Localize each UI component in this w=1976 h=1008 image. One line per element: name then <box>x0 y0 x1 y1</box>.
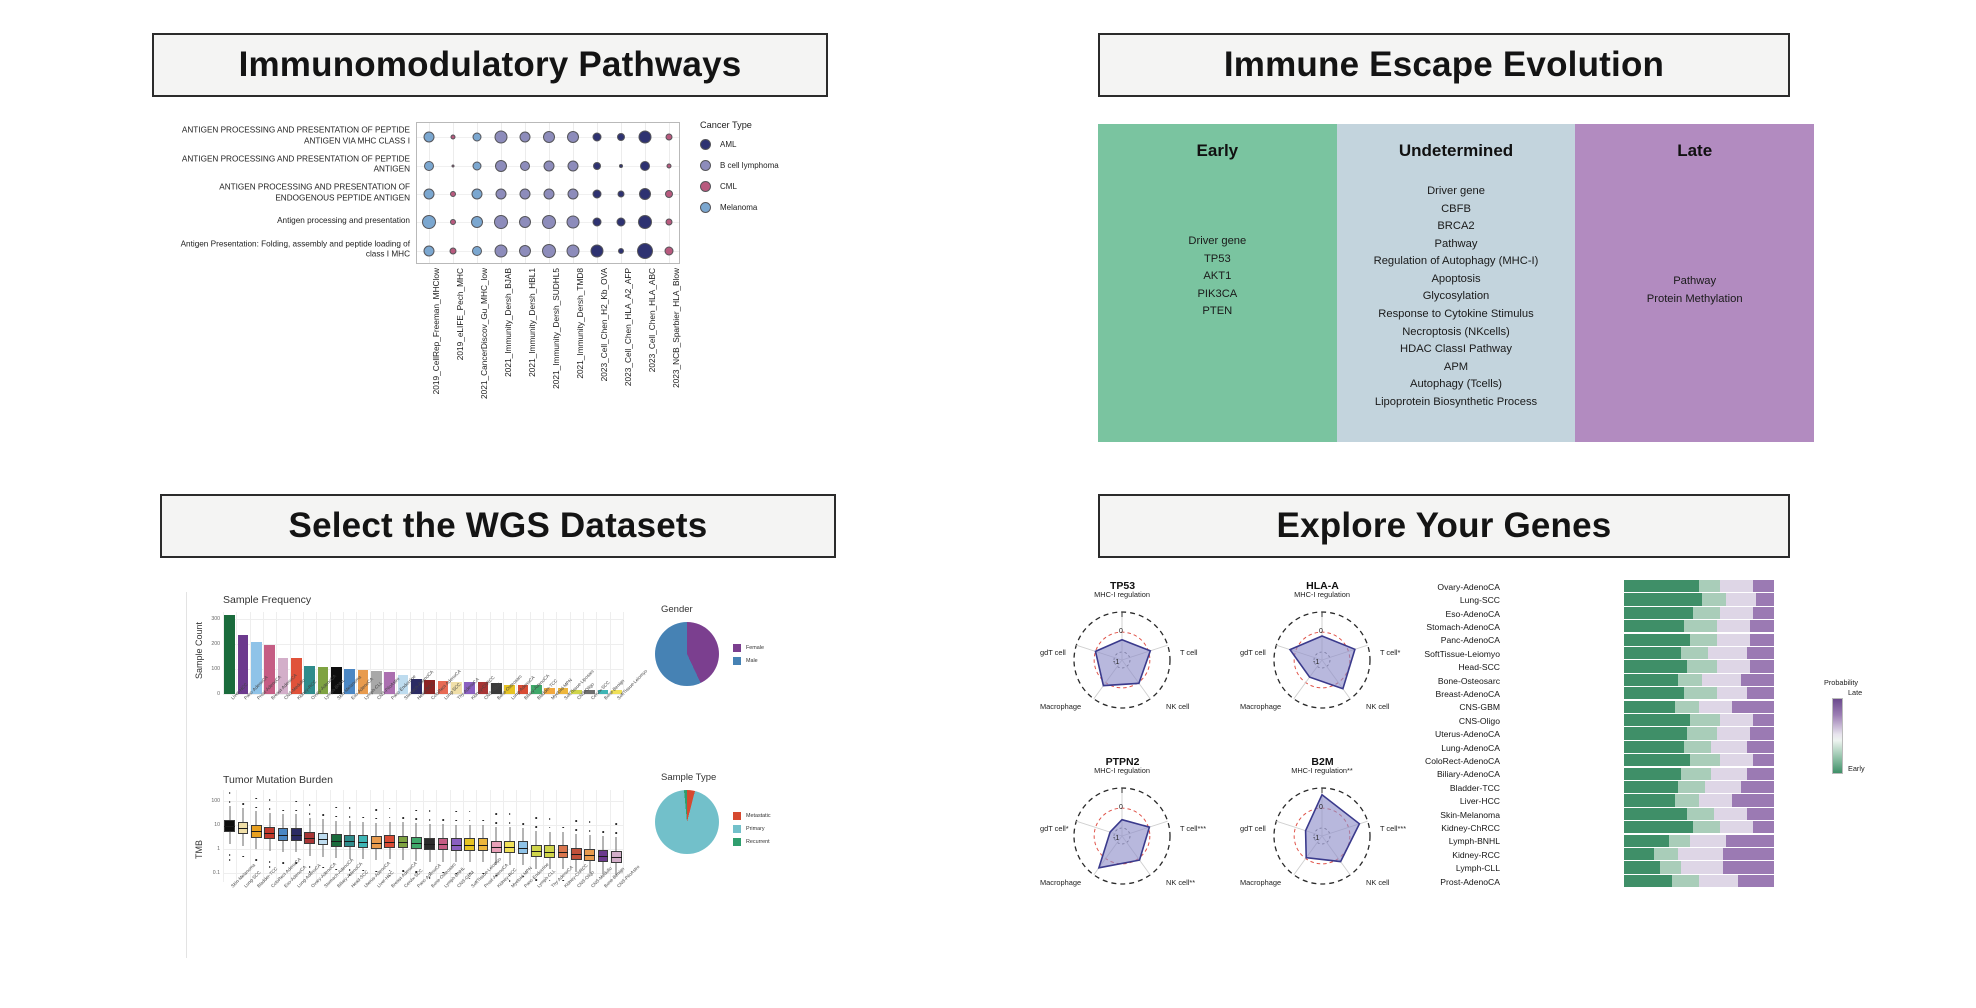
heatmap-row-label: Skin-Melanoma <box>1384 810 1500 820</box>
box-outlier <box>229 792 231 794</box>
heatmap-cell <box>1675 794 1699 806</box>
dotplot-row-label: ANTIGEN PROCESSING AND PRESENTATION OF P… <box>180 126 410 147</box>
dotplot-dot <box>472 189 483 200</box>
escape-column-early: EarlyDriver geneTP53AKT1PIK3CAPTEN <box>1098 124 1337 442</box>
heatmap-cell <box>1753 754 1774 766</box>
box-outlier <box>562 827 564 829</box>
box-median <box>304 838 315 839</box>
heatmap-cell <box>1753 580 1774 592</box>
escape-spacer <box>1098 165 1337 233</box>
heatmap-cell <box>1624 835 1669 847</box>
box-outlier <box>389 808 391 810</box>
heatmap-row-label: Bone-Osteosarc <box>1384 676 1500 686</box>
dotplot-dot <box>450 191 456 197</box>
heatmap-cell <box>1699 701 1732 713</box>
dotplot-dot <box>496 189 507 200</box>
box-outlier <box>269 861 271 863</box>
dotplot-dot <box>542 215 556 229</box>
svg-text:-1: -1 <box>1113 835 1119 842</box>
box-outlier <box>322 867 324 869</box>
heatmap-cell <box>1624 580 1699 592</box>
escape-column-late: LatePathwayProtein Methylation <box>1575 124 1814 442</box>
box-outlier <box>562 880 564 882</box>
svg-text:0: 0 <box>1119 628 1123 635</box>
escape-column-header: Early <box>1098 141 1337 161</box>
heatmap-cell <box>1699 794 1732 806</box>
escape-list-item: Regulation of Autophagy (MHC-I) <box>1337 253 1576 271</box>
dotplot-row-label: Antigen Presentation: Folding, assembly … <box>180 239 410 260</box>
panel-title-immunomodulatory: Immunomodulatory Pathways <box>152 33 828 97</box>
heatmap-cell <box>1717 620 1750 632</box>
heatmap-cell <box>1717 634 1750 646</box>
heatmap-cell <box>1753 714 1774 726</box>
dotplot-dot <box>424 189 435 200</box>
heatmap-cell <box>1669 835 1690 847</box>
box-outlier <box>402 817 404 819</box>
box-outlier <box>256 798 258 800</box>
dotplot-dot <box>568 160 579 171</box>
colorbar-top-label: Late <box>1848 688 1862 697</box>
escape-list-item: BRCA2 <box>1337 218 1576 236</box>
dotplot-dot <box>544 189 555 200</box>
heatmap-cell <box>1756 593 1774 605</box>
box-outlier <box>522 823 524 825</box>
dotplot-column-label: 2021_Immunity_Dersh_BJAB <box>503 268 513 377</box>
box-median <box>544 852 555 853</box>
box-outlier <box>242 856 244 858</box>
box-median <box>504 847 515 848</box>
heatmap-cell <box>1711 741 1747 753</box>
legend-item: Melanoma <box>700 202 870 213</box>
box-outlier <box>376 818 378 820</box>
heatmap-cell <box>1720 580 1753 592</box>
box-median <box>318 839 329 840</box>
radar-chart-hla-a: HLA-A0-1MHC-I regulationT cell*NK cellMa… <box>1240 580 1405 740</box>
escape-list-item: Lipoprotein Biosynthetic Process <box>1337 394 1576 412</box>
legend-swatch <box>733 657 741 665</box>
heatmap-cell <box>1624 714 1690 726</box>
box-outlier <box>536 817 538 819</box>
escape-column-undetermined: UndeterminedDriver geneCBFBBRCA2PathwayR… <box>1337 124 1576 442</box>
bar-item <box>224 615 235 694</box>
legend-label: Primary <box>746 826 765 832</box>
dotplot-column-label: 2019_eLIFE_Pech_MHC <box>455 268 465 360</box>
heatmap-cell <box>1723 861 1774 873</box>
legend-swatch <box>733 838 741 846</box>
dotplot-dot <box>666 134 673 141</box>
heatmap-cell <box>1717 727 1750 739</box>
dotplot-dot <box>424 245 435 256</box>
dotplot-column-label: 2021_Immunity_Dersh_TMD8 <box>575 268 585 379</box>
box-outlier <box>482 820 484 822</box>
legend-swatch <box>700 202 711 213</box>
heatmap-cell <box>1702 593 1726 605</box>
heatmap-cell <box>1624 875 1672 887</box>
box-median <box>384 842 395 843</box>
dotplot-legend: Cancer Type AMLB cell lymphomaCMLMelanom… <box>700 120 870 223</box>
box-median <box>424 844 435 845</box>
box-median <box>398 842 409 843</box>
colorbar-title: Probability <box>1824 678 1858 687</box>
dotplot-row-label: ANTIGEN PROCESSING AND PRESENTATION OF P… <box>180 154 410 175</box>
dashboard-page: Immunomodulatory Pathways Immune Escape … <box>0 0 1976 1008</box>
dotplot-dot <box>520 189 531 200</box>
legend-swatch <box>700 181 711 192</box>
svg-text:-1: -1 <box>1113 659 1119 666</box>
box-median <box>438 844 449 845</box>
box-outlier <box>509 813 511 815</box>
dotplot-dot <box>520 132 531 143</box>
bar-y-tick: 0 <box>203 691 220 697</box>
box-outlier <box>469 811 471 813</box>
heatmap-row-label: Lymph-BNHL <box>1384 836 1500 846</box>
legend-item: Female <box>733 644 764 652</box>
heatmap-cell <box>1702 674 1741 686</box>
heatmap-cell <box>1750 727 1774 739</box>
radar-svg: 0-1 <box>1040 770 1205 910</box>
radar-axis-label: gdT cell <box>1240 824 1264 833</box>
dotplot-dot <box>519 245 531 257</box>
escape-list-item: Pathway <box>1337 236 1576 254</box>
box-outlier <box>229 859 231 861</box>
heatmap-cell <box>1705 781 1741 793</box>
heatmap-cell <box>1732 701 1774 713</box>
heatmap-cell <box>1747 687 1774 699</box>
dotplot-row-label: ANTIGEN PROCESSING AND PRESENTATION OF E… <box>180 183 410 204</box>
box-median <box>331 841 342 842</box>
gender-pie-legend: FemaleMale <box>733 644 764 670</box>
escape-item-list: Driver geneCBFBBRCA2PathwayRegulation of… <box>1337 183 1576 412</box>
box-outlier <box>389 817 391 819</box>
escape-list-item: Driver gene <box>1098 233 1337 251</box>
heatmap-cell <box>1687 808 1714 820</box>
legend-label: AML <box>720 140 736 149</box>
dotplot-dot <box>495 244 508 257</box>
box-median <box>251 831 262 832</box>
box-outlier <box>509 880 511 882</box>
heatmap-cell <box>1624 687 1684 699</box>
dotplot-dot <box>424 132 435 143</box>
heatmap-cell <box>1690 634 1717 646</box>
radar-axis-label: gdT cell <box>1240 648 1264 657</box>
heatmap-row-label: Bladder-TCC <box>1384 783 1500 793</box>
box-median <box>344 841 355 842</box>
heatmap-row-label: Liver-HCC <box>1384 796 1500 806</box>
radar-axis-label: MHC-I regulation <box>1094 766 1150 775</box>
heatmap-cell <box>1738 875 1774 887</box>
colorbar-gradient <box>1832 698 1843 774</box>
box-outlier <box>576 820 578 822</box>
legend-swatch <box>733 812 741 820</box>
escape-list-item: Necroptosis (NKcells) <box>1337 324 1576 342</box>
box-outlier <box>429 819 431 821</box>
box-y-tick: 1 <box>201 846 220 852</box>
box-outlier <box>256 859 258 861</box>
box-outlier <box>349 807 351 809</box>
box-outlier <box>309 813 311 815</box>
dotplot-dot <box>591 244 604 257</box>
heatmap-cell <box>1753 821 1774 833</box>
heatmap-row-label: Breast-AdenoCA <box>1384 689 1500 699</box>
escape-list-item: Pathway <box>1575 273 1814 291</box>
sample-type-pie <box>655 790 719 854</box>
escape-list-item: HDAC ClassI Pathway <box>1337 341 1576 359</box>
heatmap-cell <box>1720 607 1753 619</box>
heatmap-row-label: Head-SCC <box>1384 662 1500 672</box>
heatmap-cell <box>1699 875 1738 887</box>
heatmap-cell <box>1750 634 1774 646</box>
box-outlier <box>309 804 311 806</box>
box-outlier <box>229 854 231 856</box>
heatmap-cell <box>1741 781 1774 793</box>
heatmap-row-label: Lung-SCC <box>1384 595 1500 605</box>
immunomodulatory-dotplot: ANTIGEN PROCESSING AND PRESENTATION OF P… <box>180 118 880 488</box>
box-median <box>411 843 422 844</box>
heatmap-cell <box>1720 754 1753 766</box>
box-median <box>224 826 235 827</box>
dotplot-dot <box>638 215 652 229</box>
escape-list-item: APM <box>1337 359 1576 377</box>
escape-spacer <box>1575 165 1814 273</box>
legend-item: Recurrent <box>733 838 771 846</box>
box-outlier <box>442 819 444 821</box>
box-outlier <box>349 816 351 818</box>
box-outlier <box>282 862 284 864</box>
heatmap-cell <box>1684 620 1717 632</box>
heatmap-cell <box>1624 781 1678 793</box>
radar-axis-label: MHC-I regulation** <box>1291 766 1353 775</box>
radar-axis-label: Macrophage <box>1040 878 1066 887</box>
heatmap-cell <box>1624 848 1654 860</box>
heatmap-cell <box>1687 660 1717 672</box>
box-median <box>558 852 569 853</box>
dotplot-dot <box>593 133 602 142</box>
legend-label: Female <box>746 645 764 651</box>
heatmap-cell <box>1690 754 1720 766</box>
heatmap-cell <box>1624 741 1684 753</box>
radar-axis-label: Macrophage <box>1240 702 1266 711</box>
heatmap-cell <box>1753 607 1774 619</box>
box-outlier <box>269 866 271 868</box>
panel-title-immune-escape: Immune Escape Evolution <box>1098 33 1790 97</box>
heatmap-cell <box>1672 875 1699 887</box>
heatmap-cell <box>1675 701 1699 713</box>
svg-text:0: 0 <box>1319 628 1323 635</box>
heatmap-cell <box>1624 674 1678 686</box>
heatmap-row-label: Lung-AdenoCA <box>1384 743 1500 753</box>
dotplot-dot <box>640 161 650 171</box>
radar-axis-label: MHC-I regulation <box>1094 590 1150 599</box>
heatmap-cell <box>1726 593 1756 605</box>
heatmap-cell <box>1717 687 1747 699</box>
escape-column-header: Late <box>1575 141 1814 161</box>
radar-axis-label: Macrophage <box>1240 878 1266 887</box>
legend-item: Metastatic <box>733 812 771 820</box>
bar-chart-title: Sample Frequency <box>223 594 311 606</box>
dotplot-dot <box>619 164 623 168</box>
heatmap-cell <box>1684 741 1711 753</box>
heatmap-cell <box>1723 848 1774 860</box>
box-outlier <box>536 826 538 828</box>
immune-escape-columns: EarlyDriver geneTP53AKT1PIK3CAPTENUndete… <box>1098 124 1814 442</box>
box-outlier <box>496 822 498 824</box>
radar-svg: 0-1 <box>1040 594 1205 734</box>
box-outlier <box>549 880 551 882</box>
legend-swatch <box>700 160 711 171</box>
dotplot-dot <box>618 191 625 198</box>
dotplot-dot <box>666 219 673 226</box>
heatmap-cell <box>1750 660 1774 672</box>
legend-label: Recurrent <box>746 839 770 845</box>
dotplot-dot <box>593 162 601 170</box>
bar-y-tick: 200 <box>203 641 220 647</box>
box-median <box>598 856 609 857</box>
box-outlier <box>549 827 551 829</box>
dotplot-column-label: 2021_Immunity_Dersh_SUDHL5 <box>551 268 561 389</box>
sample-type-pie-legend: MetastaticPrimaryRecurrent <box>733 812 771 851</box>
heatmap-cell <box>1624 768 1681 780</box>
heatmap-cell <box>1750 620 1774 632</box>
heatmap-cell <box>1678 781 1705 793</box>
heatmap-cell <box>1693 821 1720 833</box>
heatmap-cell <box>1690 835 1726 847</box>
dotplot-dot <box>424 161 434 171</box>
radar-chart-tp53: TP530-1MHC-I regulationT cellNK cellMacr… <box>1040 580 1205 740</box>
heatmap-cell <box>1678 674 1702 686</box>
heatmap-cell <box>1714 808 1747 820</box>
dotplot-column-label: 2019_CellRep_Freeman_MHClow <box>431 268 441 394</box>
box-outlier <box>269 808 271 810</box>
panel-title-explore-genes: Explore Your Genes <box>1098 494 1790 558</box>
box-outlier <box>616 832 618 834</box>
box-outlier <box>549 818 551 820</box>
dotplot-dot <box>567 244 580 257</box>
box-y-tick: 0.1 <box>201 870 220 876</box>
svg-text:-1: -1 <box>1313 835 1319 842</box>
radar-axis-label: NK cell <box>1166 702 1189 711</box>
legend-item: AML <box>700 139 870 150</box>
radar-axis-label: gdT cell* <box>1040 824 1064 833</box>
legend-label: Metastatic <box>746 813 771 819</box>
heatmap-cell <box>1747 647 1774 659</box>
svg-text:0: 0 <box>1319 804 1323 811</box>
heatmap-row-label: Prost-AdenoCA <box>1384 877 1500 887</box>
dotplot-dot <box>665 190 673 198</box>
legend-label: CML <box>720 182 737 191</box>
heatmap-row-label: Panc-AdenoCA <box>1384 635 1500 645</box>
heatmap-row-label: Ovary-AdenoCA <box>1384 582 1500 592</box>
radar-axis-label: T cell*** <box>1180 824 1206 833</box>
heatmap-row-label: Lymph-CLL <box>1384 863 1500 873</box>
box-outlier <box>616 823 618 825</box>
heatmap-cell <box>1624 754 1690 766</box>
box-outlier <box>496 813 498 815</box>
box-outlier <box>336 816 338 818</box>
escape-spacer <box>1337 165 1576 183</box>
dotplot-dot <box>422 215 436 229</box>
bar-y-tick: 100 <box>203 666 220 672</box>
dotplot-dot <box>544 160 555 171</box>
dotplot-dot <box>637 243 653 259</box>
escape-item-list: PathwayProtein Methylation <box>1575 273 1814 308</box>
heatmap-cell <box>1681 647 1708 659</box>
dotplot-dot <box>665 246 674 255</box>
panel-title-text: Immunomodulatory Pathways <box>239 45 742 85</box>
box-median <box>358 842 369 843</box>
heatmap-cell <box>1741 674 1774 686</box>
box-median <box>264 833 275 834</box>
box-outlier <box>322 814 324 816</box>
panel-title-text: Explore Your Genes <box>1277 506 1612 546</box>
panel-title-text: Select the WGS Datasets <box>289 506 708 546</box>
heatmap-cell <box>1684 687 1717 699</box>
box-outlier <box>309 866 311 868</box>
box-median <box>371 843 382 844</box>
heatmap-row-label: ColoRect-AdenoCA <box>1384 756 1500 766</box>
heatmap-row-label: CNS-GBM <box>1384 702 1500 712</box>
box-median <box>531 851 542 852</box>
bar-gridline-v <box>596 612 597 694</box>
box-median <box>451 845 462 846</box>
dotplot-column-label: 2021_Immunity_Dersh_HBL1 <box>527 268 537 377</box>
dotplot-dot <box>568 189 579 200</box>
box-outlier <box>456 811 458 813</box>
dotplot-column-label: 2021_CancerDiscov_Gu_MHC_low <box>479 268 489 399</box>
escape-list-item: Autophagy (Tcells) <box>1337 376 1576 394</box>
box-y-tick: 10 <box>201 822 220 828</box>
legend-label: Male <box>746 658 758 664</box>
heatmap-cell <box>1699 580 1720 592</box>
box-outlier <box>229 801 231 803</box>
box-outlier <box>416 810 418 812</box>
heatmap-cell <box>1624 593 1702 605</box>
box-outlier <box>296 801 298 803</box>
dotplot-dot <box>450 219 456 225</box>
dotplot-dot <box>520 161 530 171</box>
box-median <box>571 854 582 855</box>
box-outlier <box>362 817 364 819</box>
heatmap-cell <box>1624 701 1675 713</box>
dotplot-dot <box>542 244 556 258</box>
bar-y-tick: 300 <box>203 616 220 622</box>
legend-item: CML <box>700 181 870 192</box>
radar-axis-label: MHC-I regulation <box>1294 590 1350 599</box>
heatmap-cell <box>1624 794 1675 806</box>
heatmap-cell <box>1720 821 1753 833</box>
radar-axis-label: Macrophage <box>1040 702 1066 711</box>
box-outlier <box>256 807 258 809</box>
box-median <box>611 857 622 858</box>
radar-chart-ptpn2: PTPN20-1MHC-I regulationT cell***NK cell… <box>1040 756 1205 916</box>
bar-gridline-v <box>503 612 504 694</box>
dotplot-column-labels: 2019_CellRep_Freeman_MHClow2019_eLIFE_Pe… <box>416 268 680 468</box>
dotplot-dot <box>494 215 508 229</box>
svg-text:0: 0 <box>1119 804 1123 811</box>
legend-swatch <box>700 139 711 150</box>
dotplot-grid <box>416 122 680 264</box>
dotplot-dot <box>473 133 482 142</box>
dotplot-dot <box>567 216 580 229</box>
dotplot-dot <box>451 135 456 140</box>
heatmap-row-label: CNS-Oligo <box>1384 716 1500 726</box>
dotplot-dot <box>495 160 507 172</box>
box-outlier <box>429 810 431 812</box>
legend-item: B cell lymphoma <box>700 160 870 171</box>
box-outlier <box>589 830 591 832</box>
radar-axis-label: T cell <box>1180 648 1198 657</box>
box-median <box>584 855 595 856</box>
heatmap-cell <box>1726 835 1774 847</box>
